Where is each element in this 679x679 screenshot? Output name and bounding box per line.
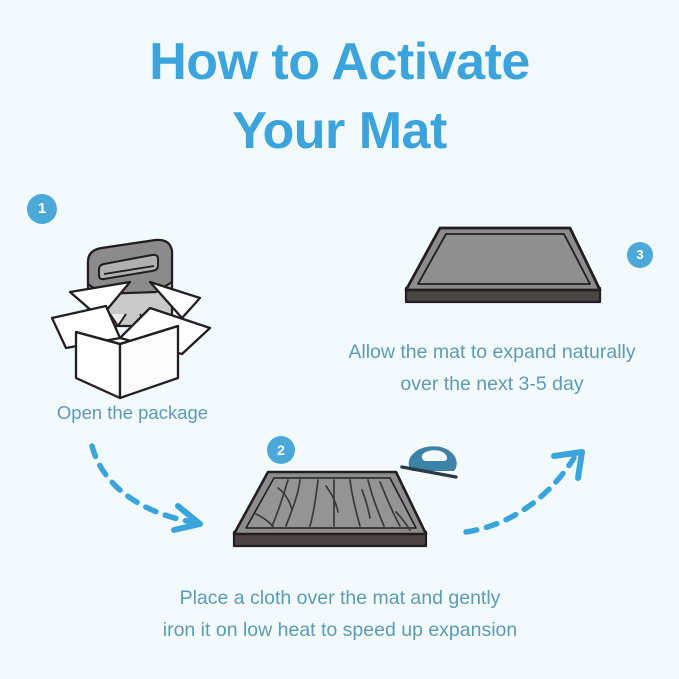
wrinkled-mat-icon [230,466,430,558]
step-2-caption: Place a cloth over the mat and gently ir… [110,583,570,646]
step-3-caption-line-1: Allow the mat to expand naturally [305,337,679,369]
step-3-caption: Allow the mat to expand naturally over t… [305,337,679,400]
step-badge-1: 1 [27,194,57,224]
page-title: How to Activate Your Mat [0,28,679,166]
step-1-caption-line-1: Open the package [10,398,255,428]
step-2-caption-line-1: Place a cloth over the mat and gently [110,583,570,615]
flat-mat-icon [400,222,606,314]
arrow-step1-to-step2 [86,440,222,540]
cardboard-box-icon [44,222,224,397]
step-1-caption: Open the package [10,398,255,428]
step-2-caption-line-2: iron it on low heat to speed up expansio… [110,615,570,647]
page-title-line-1: How to Activate [0,28,679,97]
arrow-step2-to-step3 [462,442,598,542]
infographic-canvas: How to Activate Your Mat 1 [0,0,679,679]
step-badge-3: 3 [627,242,653,268]
page-title-line-2: Your Mat [0,97,679,166]
step-badge-2: 2 [267,436,295,464]
step-3-caption-line-2: over the next 3-5 day [305,369,679,401]
